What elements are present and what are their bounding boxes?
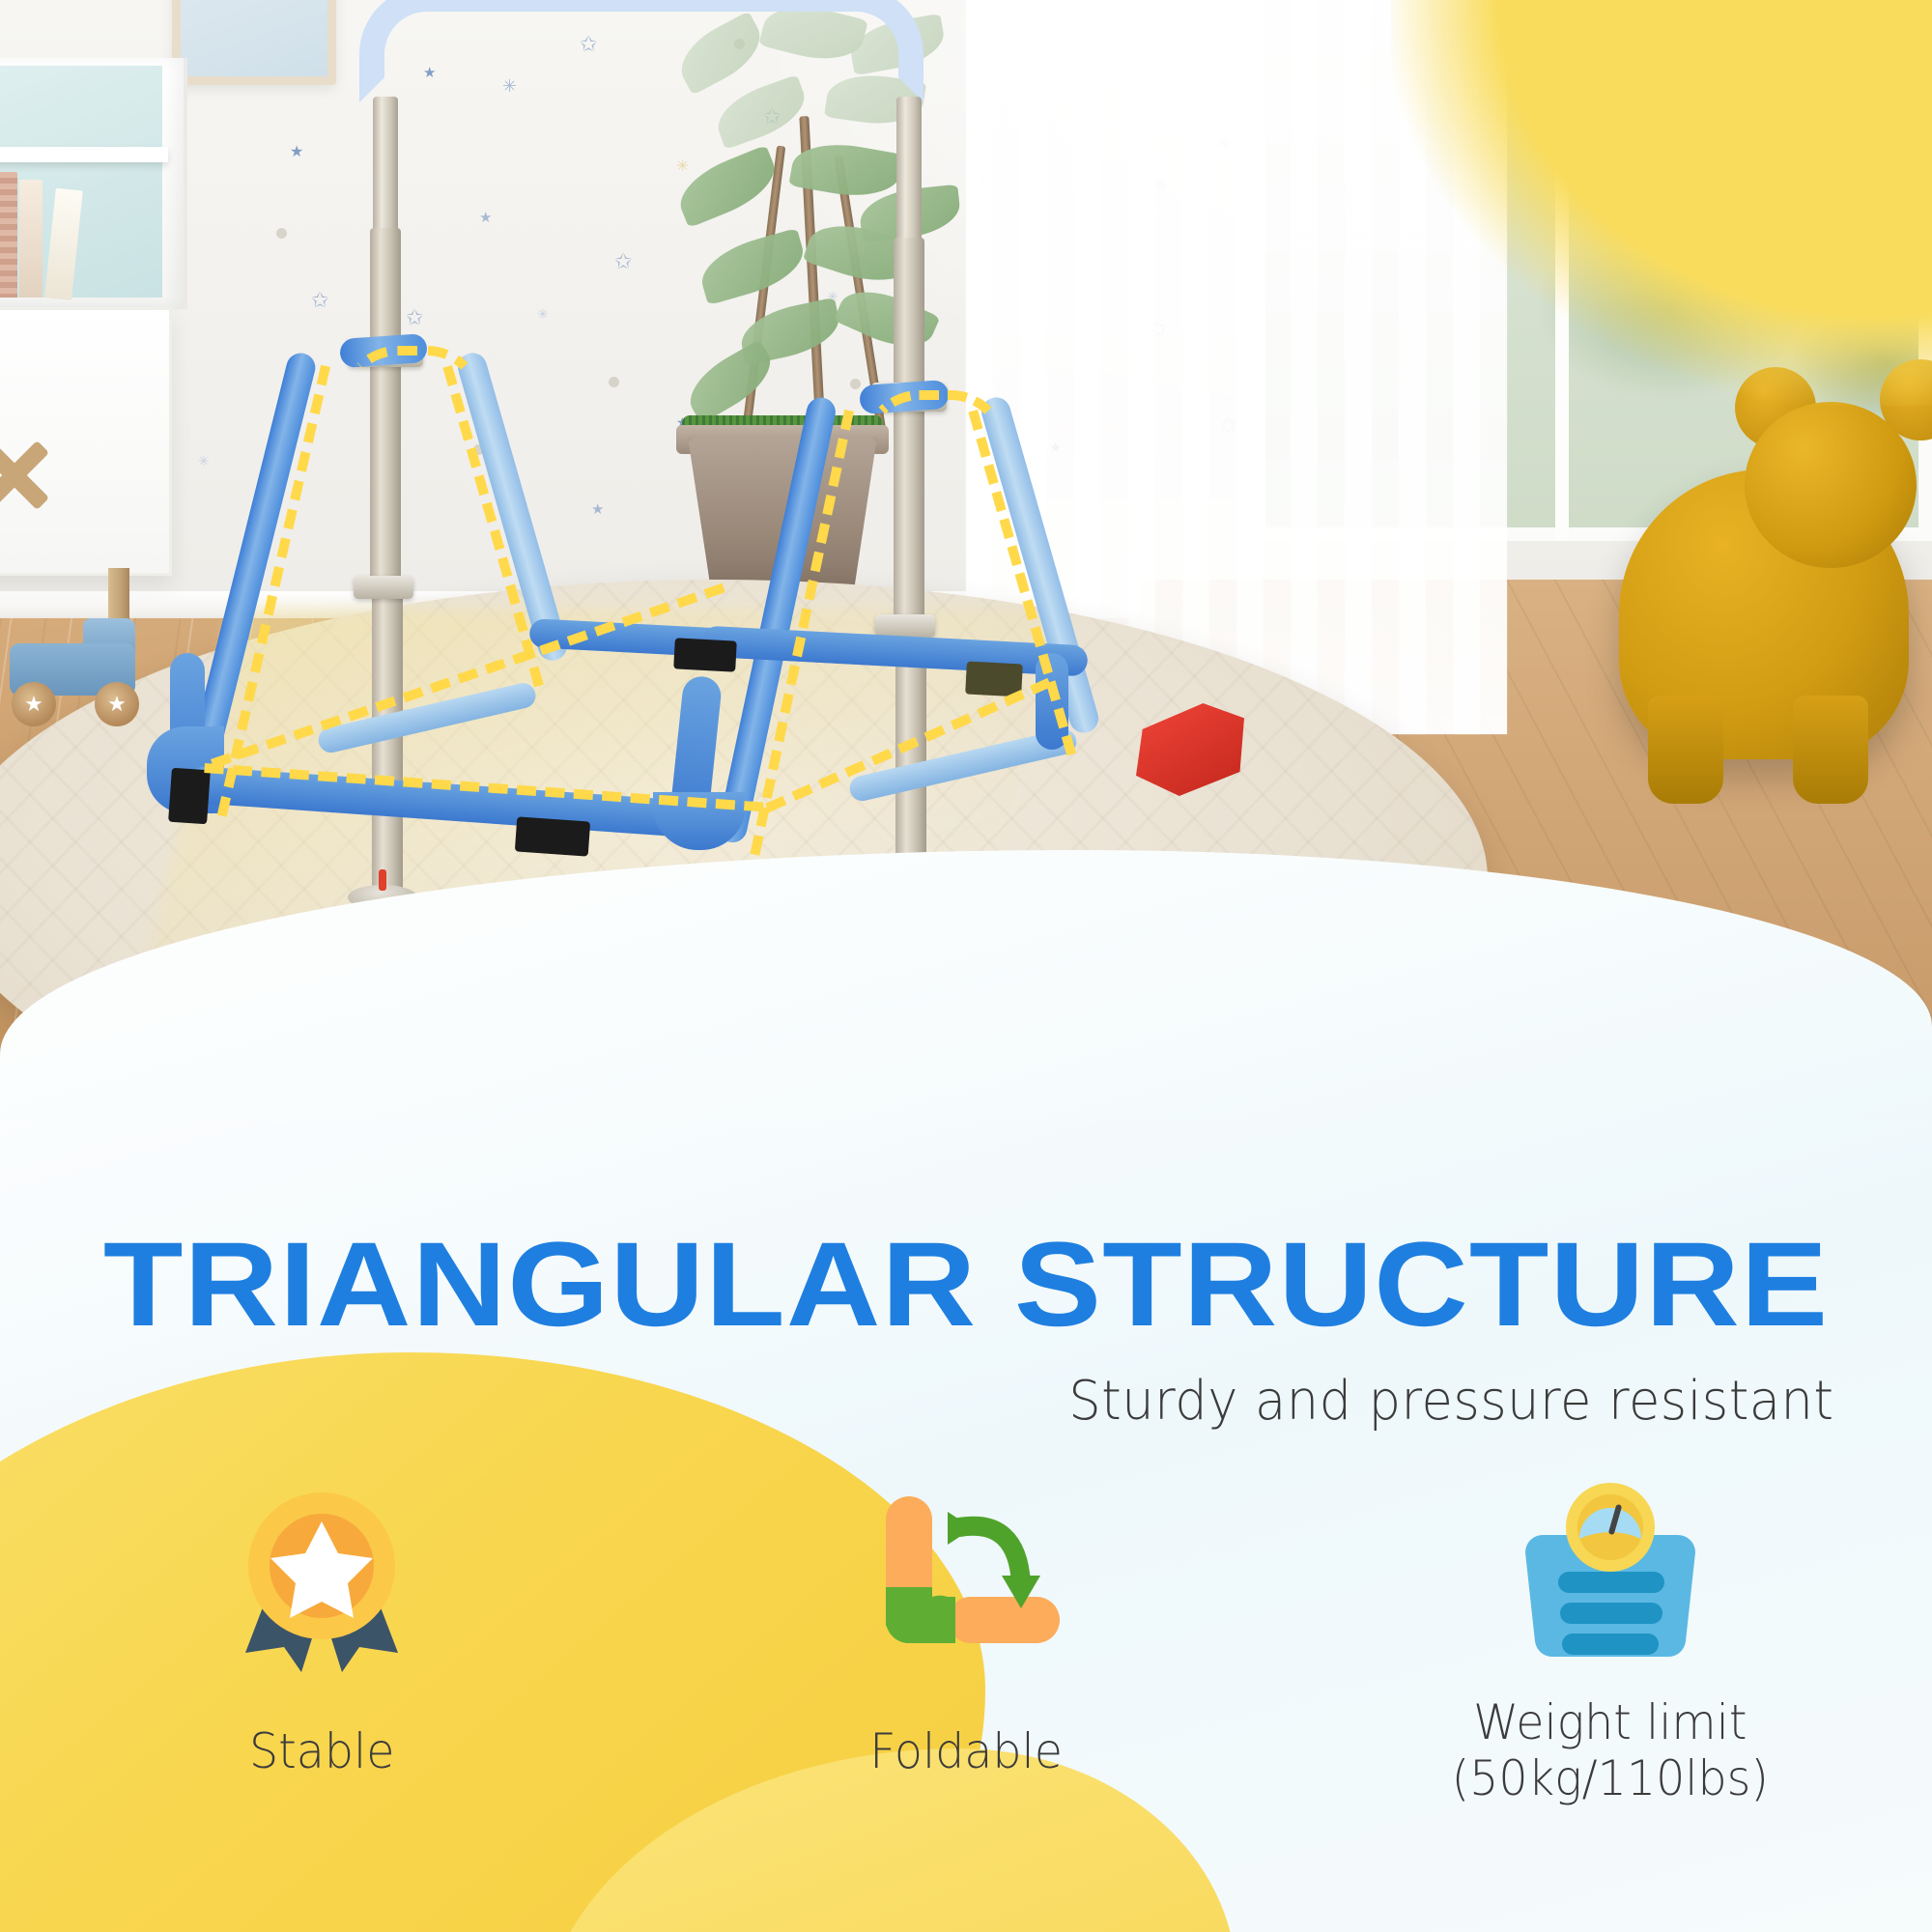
yellow-wave-top-right xyxy=(1391,0,1932,406)
feature-item-stable: Stable xyxy=(51,1468,592,1779)
left-pole-lower xyxy=(372,589,403,898)
left-foot-pin xyxy=(379,869,386,891)
left-pole-upper xyxy=(373,97,398,232)
grip-mid xyxy=(673,638,737,671)
left-mid-bracket xyxy=(354,576,413,599)
feature-label-foldable: Foldable xyxy=(869,1723,1063,1779)
right-frame-leg-front xyxy=(716,395,838,845)
feature-label-stable: Stable xyxy=(249,1723,394,1779)
page-title: TRIANGULAR STRUCTURE xyxy=(0,1225,1932,1345)
feature-list: Stable xyxy=(0,1468,1932,1913)
right-mid-bracket xyxy=(875,614,935,638)
feature-item-weight-limit: Weight limit (50kg/110lbs) xyxy=(1340,1468,1881,1806)
weight-scale-icon xyxy=(1504,1468,1717,1690)
grip-front xyxy=(515,816,590,856)
right-pole-upper xyxy=(896,97,922,241)
fold-arrow-icon xyxy=(855,1468,1077,1690)
award-medal-icon xyxy=(230,1468,413,1690)
feature-item-foldable: Foldable xyxy=(696,1468,1236,1779)
feature-label-weight-limit: Weight limit (50kg/110lbs) xyxy=(1451,1694,1768,1806)
product-feature-banner: ✩ ✳ ★ ✩ ✳ ★ ✩ ✳ ✳ ★ ✩ ✳ ✩ ✳ ★ ✩ ✳ ✩ ★ ✳ … xyxy=(0,0,1932,1932)
page-subtitle: Sturdy and pressure resistant xyxy=(116,1370,1932,1433)
grip-left xyxy=(168,768,211,825)
top-handle-bar xyxy=(359,0,923,102)
